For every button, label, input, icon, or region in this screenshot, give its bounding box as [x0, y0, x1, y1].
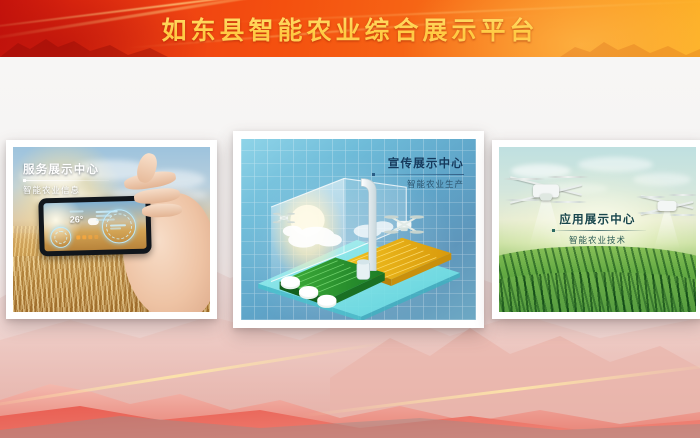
- header-banner: 如东县智能农业综合展示平台: [0, 0, 700, 57]
- card-service-title: 服务展示中心: [23, 161, 109, 177]
- card-service-caption: 服务展示中心 智能农业信息: [23, 161, 109, 196]
- card-application-display-center[interactable]: 应用展示中心 智能农业技术: [492, 140, 700, 319]
- phone-screen: 26°: [43, 201, 146, 252]
- app-root: 如东县智能农业综合展示平台: [0, 0, 700, 438]
- page-title: 如东县智能农业综合展示平台: [0, 0, 700, 57]
- card-service-display-center[interactable]: 26°: [6, 140, 217, 319]
- drone-large: [503, 171, 589, 211]
- caption-dot: [552, 229, 555, 232]
- card-promotion-subtitle: 智能农业生产: [372, 178, 464, 190]
- card-promotion-title: 宣传展示中心: [372, 155, 464, 171]
- caption-rule: [23, 180, 109, 181]
- card-promotion-display-center[interactable]: 宣传展示中心 智能农业生产: [233, 131, 484, 328]
- card-application-thumbnail: 应用展示中心 智能农业技术: [499, 147, 696, 312]
- card-application-caption: 应用展示中心 智能农业技术: [550, 211, 646, 246]
- card-application-title: 应用展示中心: [550, 211, 646, 227]
- card-service-thumbnail: 26°: [13, 147, 210, 312]
- caption-rule: [372, 174, 464, 175]
- ar-gauge-ring: [50, 227, 72, 249]
- card-promotion-caption: 宣传展示中心 智能农业生产: [372, 155, 464, 190]
- card-application-subtitle: 智能农业技术: [550, 234, 646, 246]
- smartphone: 26°: [38, 196, 151, 257]
- card-service-subtitle: 智能农业信息: [23, 184, 109, 196]
- caption-dot: [372, 173, 375, 176]
- crop-rows-foreground: [499, 272, 696, 312]
- temperature-readout: 26°: [70, 214, 84, 224]
- caption-dot: [23, 179, 26, 182]
- caption-rule: [550, 230, 646, 231]
- card-promotion-thumbnail: 宣传展示中心 智能农业生产: [241, 139, 476, 320]
